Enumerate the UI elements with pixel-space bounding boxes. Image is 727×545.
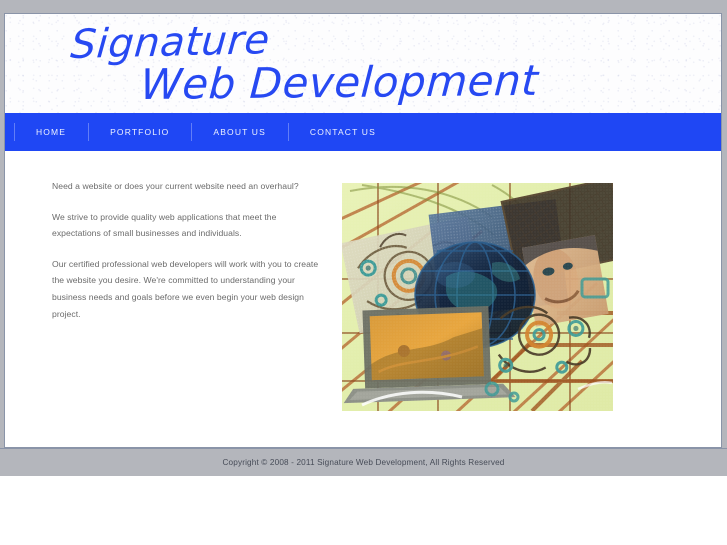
logo-line-web-development: Web Development [139,56,540,109]
site-logo[interactable]: Signature Web Development [57,20,617,110]
hero-collage-artwork [342,183,613,411]
browser-viewport: Signature Web Development HOME PORTFOLIO… [0,0,727,545]
intro-paragraph-2: We strive to provide quality web applica… [52,209,327,242]
hero-collage-image [342,183,613,411]
intro-paragraph-1: Need a website or does your current webs… [52,178,327,195]
footer-band: Copyright © 2008 - 2011 Signature Web De… [0,448,727,476]
below-fold-area [0,476,727,545]
nav-item-home[interactable]: HOME [14,113,88,151]
main-content: Need a website or does your current webs… [5,151,721,447]
site-header: Signature Web Development [5,14,721,113]
intro-paragraph-3: Our certified professional web developer… [52,256,327,322]
nav-item-portfolio[interactable]: PORTFOLIO [88,113,191,151]
main-navigation: HOME PORTFOLIO ABOUT US CONTACT US [5,113,721,151]
website-page: Signature Web Development HOME PORTFOLIO… [4,13,722,448]
top-surround-band [0,0,727,13]
nav-item-contact-us[interactable]: CONTACT US [288,113,398,151]
nav-item-about-us[interactable]: ABOUT US [191,113,288,151]
intro-copy: Need a website or does your current webs… [52,178,327,336]
footer-copyright: Copyright © 2008 - 2011 Signature Web De… [0,449,727,476]
